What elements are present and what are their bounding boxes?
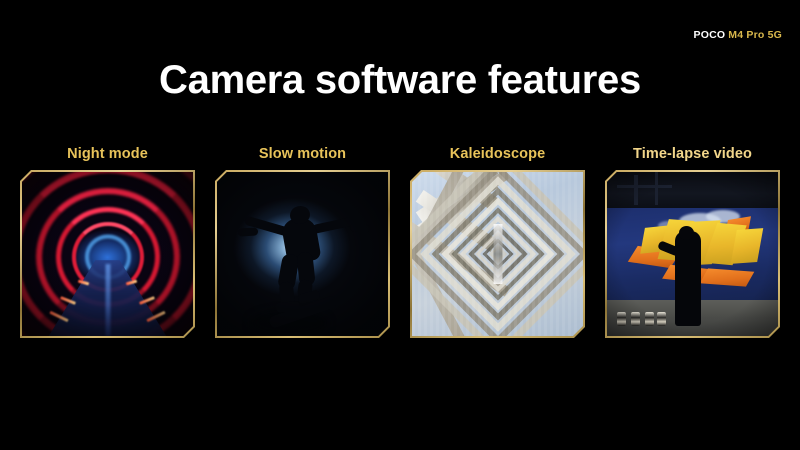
feature-card-night-mode[interactable]: Night mode: [20, 138, 195, 338]
feature-grid: Night mode: [20, 138, 780, 338]
presentation-slide: POCOM4 Pro 5G Camera software features N…: [0, 0, 800, 450]
feature-label: Time-lapse video: [605, 138, 780, 170]
image-vignette: [22, 172, 193, 336]
feature-image-frame: [215, 170, 390, 338]
feature-label: Kaleidoscope: [410, 138, 585, 170]
feature-image-time-lapse: [607, 172, 778, 336]
feature-label: Night mode: [20, 138, 195, 170]
feature-image-frame: [20, 170, 195, 338]
feature-card-time-lapse-video[interactable]: Time-lapse video: [605, 138, 780, 338]
feature-image-kaleidoscope: [412, 172, 583, 336]
page-title: Camera software features: [0, 58, 800, 102]
feature-label: Slow motion: [215, 138, 390, 170]
feature-card-slow-motion[interactable]: Slow motion: [215, 138, 390, 338]
brand-logo: POCOM4 Pro 5G: [694, 30, 782, 41]
image-vignette: [217, 172, 388, 336]
brand-name: POCO: [694, 29, 726, 41]
image-vignette: [607, 172, 778, 336]
feature-image-frame: [605, 170, 780, 338]
feature-image-frame: [410, 170, 585, 338]
feature-card-kaleidoscope[interactable]: Kaleidoscope: [410, 138, 585, 338]
feature-image-slow-motion: [217, 172, 388, 336]
image-texture-overlay: [412, 172, 583, 336]
feature-image-night-mode: [22, 172, 193, 336]
brand-model: M4 Pro 5G: [728, 29, 782, 41]
